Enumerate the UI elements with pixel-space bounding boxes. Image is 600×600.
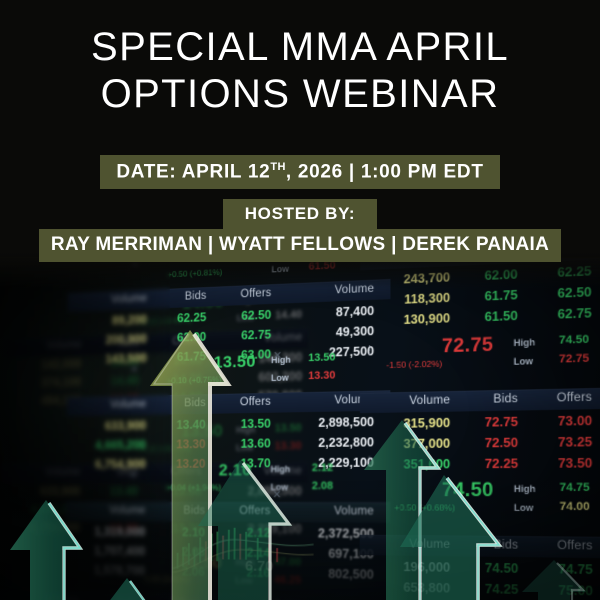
- close-icon[interactable]: ✕: [129, 469, 138, 482]
- hosted-by-label: HOSTED BY:: [223, 199, 378, 229]
- last-price: 72.75: [442, 334, 494, 358]
- cell-bid: 72.50: [463, 436, 518, 451]
- up-arrow-left-tall: [8, 498, 84, 600]
- quote-panel-right-quote-72: 72.75 High 74.50 -1.50 (-2.02%) Low 72.7…: [390, 327, 600, 337]
- high-label: High: [514, 337, 536, 348]
- col-header-volume-1: Volume: [67, 398, 147, 411]
- col-header-volume-1: Volume: [68, 293, 148, 308]
- col-header-offers: Offers: [535, 391, 592, 405]
- table-row: 315,900 72.75 73.00 565,300: [360, 366, 600, 375]
- cell-offer: 73.00: [535, 413, 592, 429]
- cell-offer: 62.50: [535, 285, 592, 302]
- date-band: DATE: APRIL 12TH, 2026 | 1:00 PM EDT: [100, 155, 499, 189]
- cell-volume-2: 2,229,100: [282, 456, 374, 471]
- date-suffix: , 2026 | 1:00 PM EDT: [286, 161, 484, 182]
- cell-volume-2: 2,232,800: [282, 435, 374, 450]
- hosts-band-wrapper: RAY MERRIMAN | WYATT FELLOWS | DEREK PAN…: [0, 229, 600, 262]
- col-header-offers: Offers: [536, 539, 593, 552]
- cell-bid: 62.25: [158, 310, 207, 325]
- page-title: SPECIAL MMA APRIL OPTIONS WEBINAR: [0, 24, 600, 118]
- title-line-1: SPECIAL MMA APRIL: [0, 24, 600, 71]
- board-perspective-wrapper: 14.50 High 14.70 +0.10 (+0.69%) Low 14.4…: [0, 258, 600, 600]
- cell-offer: 73.50: [535, 456, 592, 471]
- cell-offer: 62.50: [221, 308, 271, 324]
- low-value: 13.30: [308, 369, 335, 382]
- cell-volume-2: 2,898,500: [283, 415, 375, 430]
- cell-offer: 62.25: [535, 264, 592, 281]
- table-row: 351,600 72.25 73.50 563,000: [360, 366, 600, 375]
- cell-bid: 61.50: [463, 309, 518, 325]
- high-value: 74.75: [559, 481, 589, 494]
- close-icon[interactable]: ✕: [273, 349, 282, 362]
- low-label: Low: [514, 502, 533, 513]
- cell-bid: 13.40: [91, 485, 138, 499]
- up-arrow-left-small: [96, 576, 158, 600]
- cell-bid: 14.40: [92, 374, 139, 389]
- low-label: Low: [272, 264, 290, 275]
- up-arrow-center-bottom: [196, 458, 296, 600]
- cell-volume-1: 243,700: [360, 270, 450, 288]
- date-band-wrapper: DATE: APRIL 12TH, 2026 | 1:00 PM EDT: [0, 155, 600, 189]
- cell-volume-2: 49,300: [283, 324, 374, 341]
- low-value: 72.75: [559, 352, 589, 365]
- col-header-offers: Offers: [222, 287, 272, 301]
- cell-volume-1: 89,200: [67, 313, 147, 329]
- low-value: 74.00: [560, 500, 590, 513]
- high-value: 74.50: [559, 333, 589, 347]
- cell-bid: 61.75: [463, 288, 518, 305]
- board-plane: 14.50 High 14.70 +0.10 (+0.69%) Low 14.4…: [0, 258, 600, 600]
- low-value: 2.08: [312, 480, 333, 492]
- cell-volume-1: 374,100: [4, 375, 82, 390]
- col-header-volume-1: Volume: [360, 394, 450, 408]
- cell-offer: 62.75: [535, 306, 592, 323]
- high-value: 13.50: [308, 351, 335, 364]
- date-prefix: DATE: APRIL 12: [116, 161, 270, 182]
- cell-volume-2: 227,500: [283, 344, 374, 361]
- change-value: -1.50 (-2.02%): [386, 358, 442, 370]
- more-options-icon[interactable]: ⋮: [364, 348, 375, 352]
- cell-volume-1: 633,900: [66, 419, 146, 434]
- title-line-2: OPTIONS WEBINAR: [0, 71, 600, 118]
- high-label: High: [514, 484, 536, 495]
- cell-volume-2: 87,400: [283, 304, 374, 321]
- high-value: 2.12: [312, 462, 333, 474]
- close-icon[interactable]: ✕: [130, 363, 139, 376]
- col-header-volume-2: Volume: [283, 283, 374, 299]
- col-header-volume-2: Volume: [283, 394, 374, 408]
- cell-bid: 72.75: [463, 415, 518, 430]
- hosts-list: RAY MERRIMAN | WYATT FELLOWS | DEREK PAN…: [39, 229, 561, 262]
- low-label: Low: [514, 356, 533, 367]
- cell-bid: 72.25: [463, 456, 518, 471]
- cell-volume-1: 200,900: [67, 332, 147, 348]
- stock-ticker-background: 14.50 High 14.70 +0.10 (+0.69%) Low 14.4…: [0, 258, 600, 600]
- column-header-bar: Volume Bids Offers Volume: [67, 279, 390, 312]
- table-row: 377,000 72.50 73.25 423,400: [360, 366, 600, 375]
- webinar-promo-poster: 14.50 High 14.70 +0.10 (+0.69%) Low 14.4…: [0, 0, 600, 600]
- hosted-by-band-wrapper: HOSTED BY:: [0, 199, 600, 229]
- cell-volume-1: 633,900: [2, 485, 80, 498]
- col-header-bids: Bids: [463, 393, 518, 406]
- up-arrow-right-small: [520, 558, 590, 600]
- col-header-bids: Bids: [158, 290, 207, 304]
- column-header-bar: Volume Bids Offers Volume: [360, 385, 600, 413]
- change-value: +0.50 (+0.81%): [167, 267, 222, 279]
- quote-panel-right-mid: Volume Bids Offers Volume 315,900 72.75 …: [360, 366, 600, 375]
- date-ordinal-suffix: TH: [270, 161, 285, 173]
- cell-offer: 73.25: [535, 435, 592, 450]
- cell-volume-1: 118,300: [360, 291, 450, 309]
- cell-volume-1: 4,665,200: [66, 438, 146, 452]
- cell-volume-1: 130,900: [360, 311, 450, 328]
- up-arrow-right-front: [398, 473, 508, 600]
- low-label: Low: [271, 373, 289, 383]
- cell-bid: 62.00: [463, 267, 518, 284]
